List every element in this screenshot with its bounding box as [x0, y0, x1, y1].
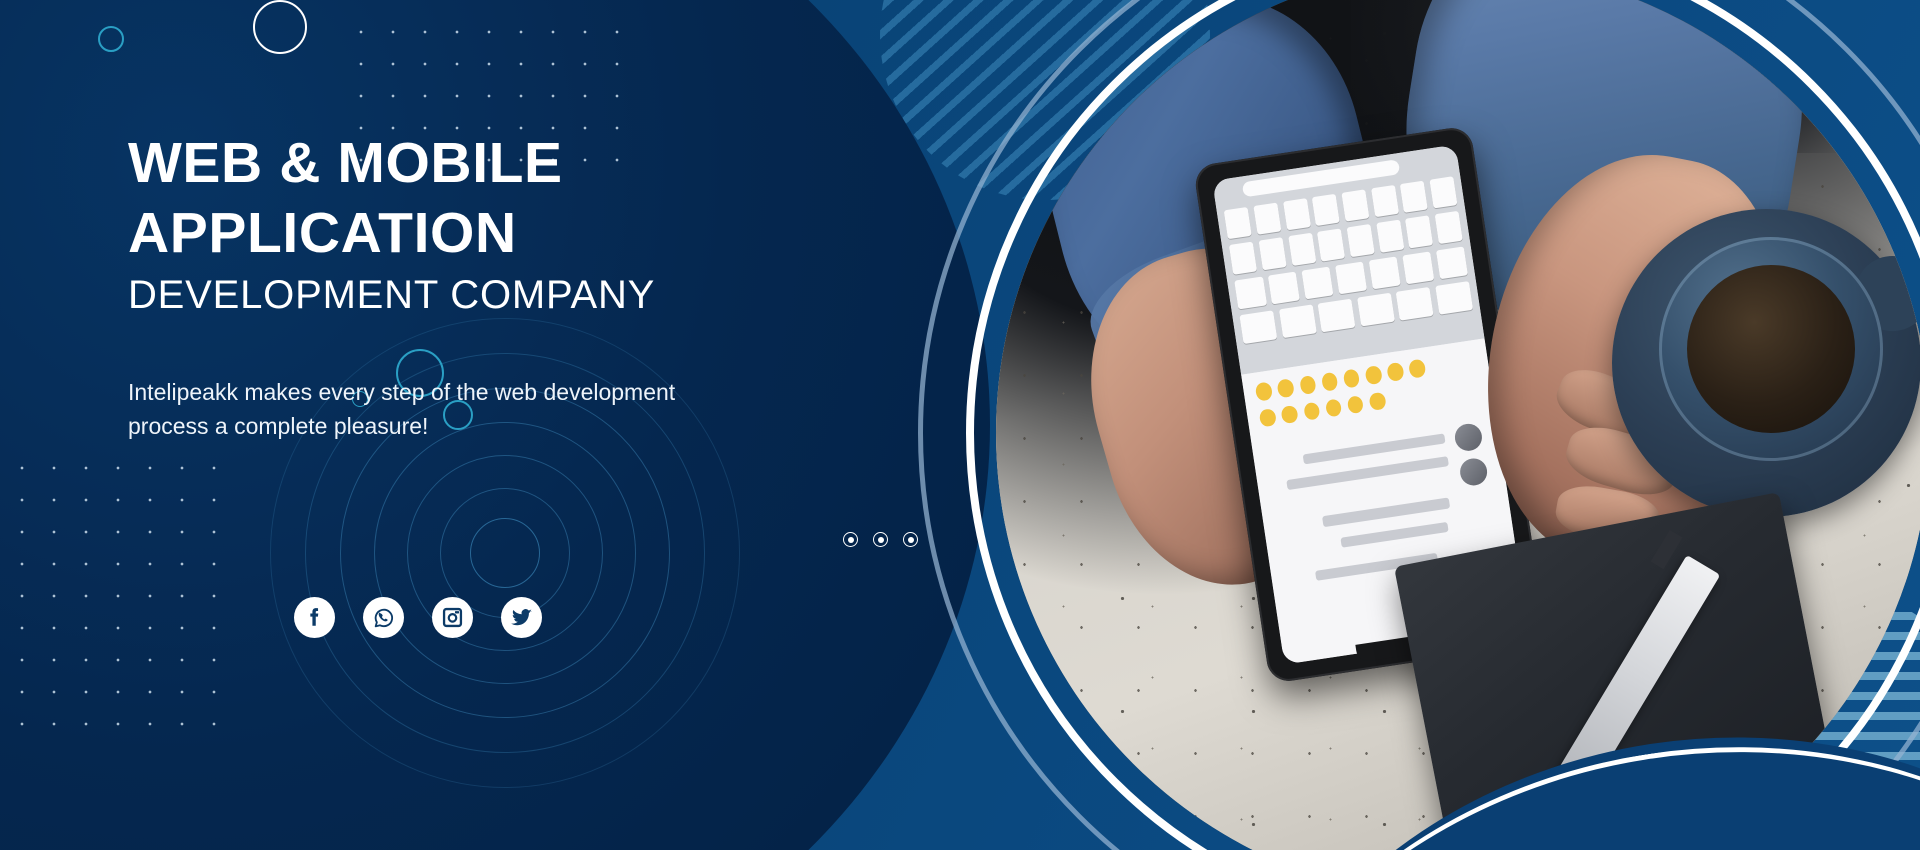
- hero-photo: [996, 0, 1920, 850]
- headline-line-2: APPLICATION: [128, 198, 828, 268]
- instagram-icon: [441, 606, 464, 629]
- dot-grid-left-decoration: [6, 452, 236, 752]
- headline-block: WEB & MOBILE APPLICATION DEVELOPMENT COM…: [128, 128, 828, 319]
- carousel-pagination: [843, 532, 918, 547]
- twitter-icon: [509, 605, 534, 630]
- hero-banner: WEB & MOBILE APPLICATION DEVELOPMENT COM…: [0, 0, 1920, 850]
- subheadline: DEVELOPMENT COMPANY: [128, 272, 828, 319]
- carousel-dot-2[interactable]: [873, 532, 888, 547]
- social-link-instagram[interactable]: [432, 597, 473, 638]
- small-teal-ring-decoration: [98, 26, 124, 52]
- whatsapp-icon: [371, 605, 397, 631]
- carousel-dot-3[interactable]: [903, 532, 918, 547]
- social-links: [294, 597, 542, 638]
- photo-phone-keyboard: [1211, 145, 1484, 375]
- social-link-twitter[interactable]: [501, 597, 542, 638]
- social-link-facebook[interactable]: [294, 597, 335, 638]
- white-ring-decoration: [253, 0, 307, 54]
- social-link-whatsapp[interactable]: [363, 597, 404, 638]
- tagline-text: Intelipeakk makes every step of the web …: [128, 375, 728, 443]
- facebook-icon: [302, 605, 327, 630]
- hero-image-frame: [918, 0, 1920, 850]
- photo-coffee-liquid: [1687, 265, 1855, 433]
- carousel-dot-1[interactable]: [843, 532, 858, 547]
- headline-line-1: WEB & MOBILE: [128, 128, 828, 198]
